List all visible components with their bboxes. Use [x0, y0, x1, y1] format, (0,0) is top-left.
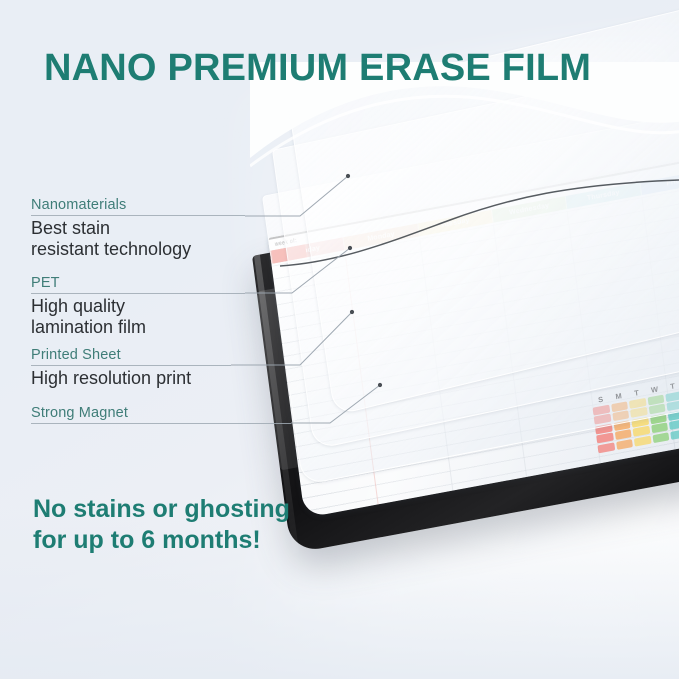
mini-calendar-cell [652, 432, 670, 443]
mini-calendar-day-initial: M [609, 390, 628, 402]
mini-calendar-cell [647, 394, 665, 405]
product-illustration: week of: SundayMondayTuesdayWednesdayThu… [0, 0, 679, 679]
spec-pet: PET High quality lamination film [31, 275, 245, 337]
mini-calendar-cell [616, 439, 634, 450]
callout-leader-lines [0, 0, 679, 679]
tagline: No stains or ghosting for up to 6 months… [33, 494, 290, 555]
spec-description-line: lamination film [31, 317, 245, 338]
spec-divider [31, 365, 231, 366]
mini-calendar-cell [612, 410, 630, 421]
mini-calendar-cell [670, 429, 679, 440]
leader-line-nanomaterials [245, 176, 348, 216]
mini-calendar-cell [596, 433, 614, 444]
sheet-top-edge [268, 156, 679, 240]
leader-dot-pet [348, 246, 352, 250]
sheet-column [272, 252, 379, 518]
mini-calendar-cell [597, 442, 615, 453]
mini-calendar-cell [634, 436, 652, 447]
spec-printed-sheet: Printed Sheet High resolution print [31, 347, 231, 389]
mini-calendar-grid [592, 384, 679, 453]
spec-nanomaterials: Nanomaterials Best stain resistant techn… [31, 197, 245, 259]
sheet-column [568, 197, 675, 463]
mini-calendar-day-initial: S [591, 393, 610, 405]
mini-calendar-cell [633, 426, 651, 437]
mini-calendar-cell [669, 419, 679, 430]
leader-dot-strong-magnet [378, 383, 382, 387]
mini-month-calendar: SMTWTFS [591, 373, 679, 453]
background-sheen-lower [349, 339, 679, 659]
film-top-edge-arc [280, 150, 679, 290]
sheet-column-dividers [272, 183, 679, 518]
spec-strong-magnet: Strong Magnet [31, 405, 291, 424]
spec-divider [31, 215, 245, 216]
mini-calendar-cell [648, 404, 666, 415]
mini-calendar-day-initial: T [663, 380, 679, 392]
mini-calendar-cell [594, 414, 612, 425]
spec-description: High resolution print [31, 368, 231, 389]
mini-calendar-cell [630, 407, 648, 418]
mini-calendar-day-initial: T [627, 386, 646, 398]
mini-calendar-cell [611, 401, 629, 412]
mini-calendar-cell [592, 404, 610, 415]
leader-dot-nanomaterials [346, 174, 350, 178]
weekday-cell-thursday: Thursday [566, 182, 642, 209]
sheet-ruled-lines [272, 183, 679, 518]
mini-calendar-cell [651, 423, 669, 434]
weekday-cell-sunday: Sunday [270, 237, 346, 264]
mini-calendar-day-initial: W [645, 383, 664, 395]
spec-term-label: Printed Sheet [31, 347, 231, 363]
spec-description-line: Best stain [31, 218, 245, 239]
spec-description-line: High quality [31, 296, 245, 317]
spec-term-label: Strong Magnet [31, 405, 291, 421]
mini-calendar-cell [668, 410, 679, 421]
weekday-cell-monday: Monday [344, 223, 420, 250]
sheet-gloss-overlay [268, 156, 679, 518]
tagline-line-1: No stains or ghosting [33, 494, 290, 525]
week-of-label: week of: [274, 237, 297, 249]
leader-line-strong-magnet [291, 385, 380, 423]
sheet-column [420, 225, 527, 491]
leader-dot-printed-sheet [350, 310, 354, 314]
weekday-cell-friday: Friday [640, 169, 679, 196]
sheet-column [494, 211, 601, 477]
background-sheen-upper [225, 31, 679, 610]
tagline-line-2: for up to 6 months! [33, 525, 290, 556]
weekday-header-strip: SundayMondayTuesdayWednesdayThursdayFrid… [270, 169, 679, 264]
spec-divider [31, 423, 291, 424]
mini-calendar-cell [631, 417, 649, 428]
spec-description: High quality lamination film [31, 296, 245, 337]
page-title: NANO PREMIUM ERASE FILM [44, 47, 591, 90]
mini-calendar-cell [667, 400, 679, 411]
spec-description-line: resistant technology [31, 239, 245, 260]
spec-description: Best stain resistant technology [31, 218, 245, 259]
product-infographic: week of: SundayMondayTuesdayWednesdayThu… [0, 0, 679, 679]
mini-calendar-cell [595, 423, 613, 434]
sheet-column [346, 238, 453, 504]
spec-term-label: PET [31, 275, 245, 291]
mini-calendar-cell [665, 391, 679, 402]
magnet-layer [252, 170, 679, 553]
pet-lamination-layer [262, 109, 679, 486]
mini-calendar-cell [614, 429, 632, 440]
week-accent-bar [272, 244, 307, 263]
leader-line-printed-sheet [231, 312, 352, 365]
weekday-cell-wednesday: Wednesday [492, 196, 568, 223]
spec-divider [31, 293, 245, 294]
nanomaterial-layer-inner [272, 56, 679, 450]
magnet-sheen [257, 263, 438, 471]
printed-sheet-layer: week of: SundayMondayTuesdayWednesdayThu… [268, 156, 679, 518]
leader-line-pet [245, 248, 350, 293]
spec-description-line: High resolution print [31, 368, 231, 389]
mini-calendar-cell [613, 420, 631, 431]
mini-calendar-cell [629, 398, 647, 409]
weekday-cell-tuesday: Tuesday [418, 210, 494, 237]
mini-calendar-cell [650, 413, 668, 424]
spec-term-label: Nanomaterials [31, 197, 245, 213]
mini-calendar-day-initials: SMTWTFS [591, 373, 679, 405]
sheet-column [642, 183, 679, 449]
